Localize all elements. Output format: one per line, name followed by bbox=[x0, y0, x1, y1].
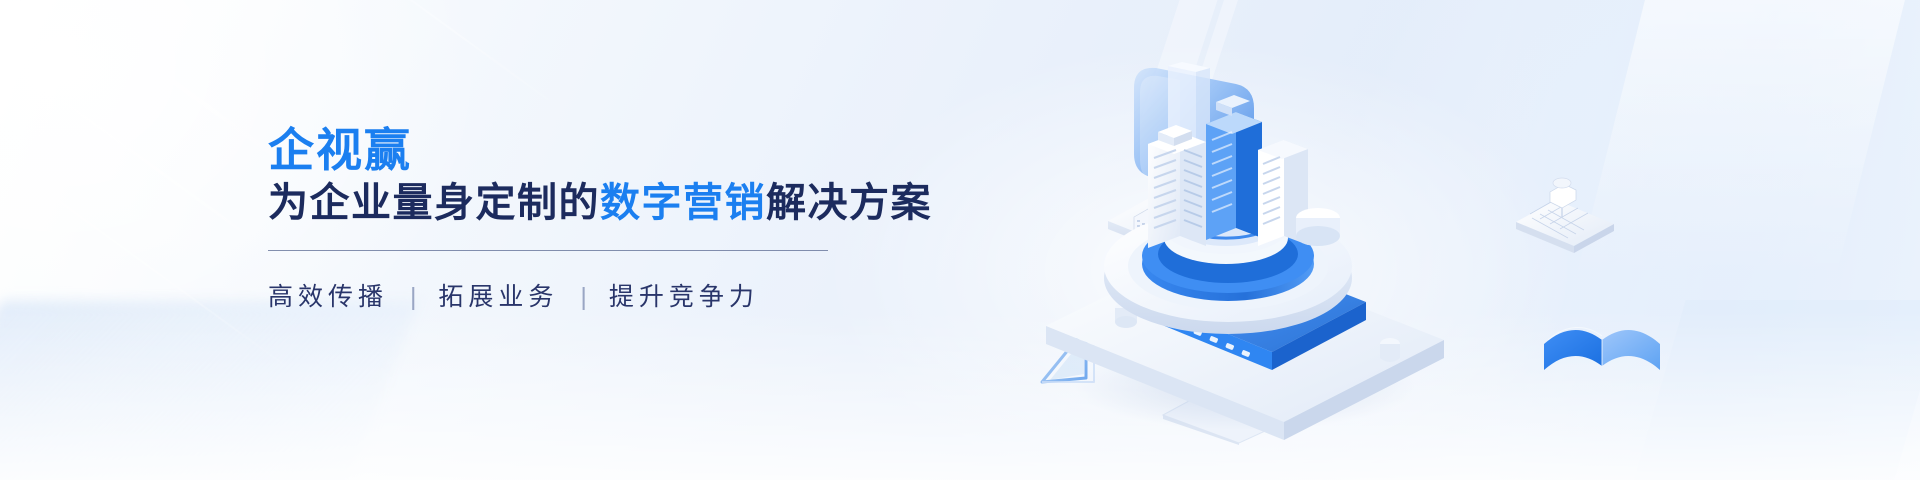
tagline-separator-2: | bbox=[570, 283, 597, 311]
keyboard-tile-icon bbox=[1510, 170, 1620, 260]
tagline-separator-1: | bbox=[400, 283, 427, 311]
headline-prefix: 为企业量身定制的 bbox=[268, 181, 600, 225]
headline: 为企业量身定制的数字营销解决方案 bbox=[268, 181, 908, 226]
accent-block-3 bbox=[1634, 300, 1920, 480]
diagonal-stripe-4 bbox=[329, 0, 573, 118]
tagline-item-1: 高效传播 bbox=[268, 283, 388, 311]
paper-stack-icon bbox=[1540, 300, 1670, 380]
tagline-item-3: 提升竞争力 bbox=[609, 283, 759, 311]
wedge-bottom-left bbox=[0, 300, 421, 480]
divider bbox=[268, 250, 828, 251]
banner-copy: 企视赢 为企业量身定制的数字营销解决方案 高效传播 | 拓展业务 | 提升竞争力 bbox=[268, 126, 908, 313]
diagonal-stripe-2 bbox=[0, 70, 301, 377]
diagonal-stripe-1 bbox=[0, 10, 280, 259]
marketing-banner: 企视赢 为企业量身定制的数字营销解决方案 高效传播 | 拓展业务 | 提升竞争力 bbox=[0, 0, 1920, 480]
brand-title: 企视赢 bbox=[268, 126, 908, 175]
tagline-item-2: 拓展业务 bbox=[438, 283, 558, 311]
tagline: 高效传播 | 拓展业务 | 提升竞争力 bbox=[268, 277, 908, 313]
hero-illustration bbox=[1030, 40, 1460, 440]
accent-cylinder bbox=[1296, 208, 1340, 246]
headline-highlight: 数字营销 bbox=[600, 181, 766, 225]
wedge-top-right bbox=[1575, 0, 1920, 280]
headline-suffix: 解决方案 bbox=[766, 181, 932, 225]
